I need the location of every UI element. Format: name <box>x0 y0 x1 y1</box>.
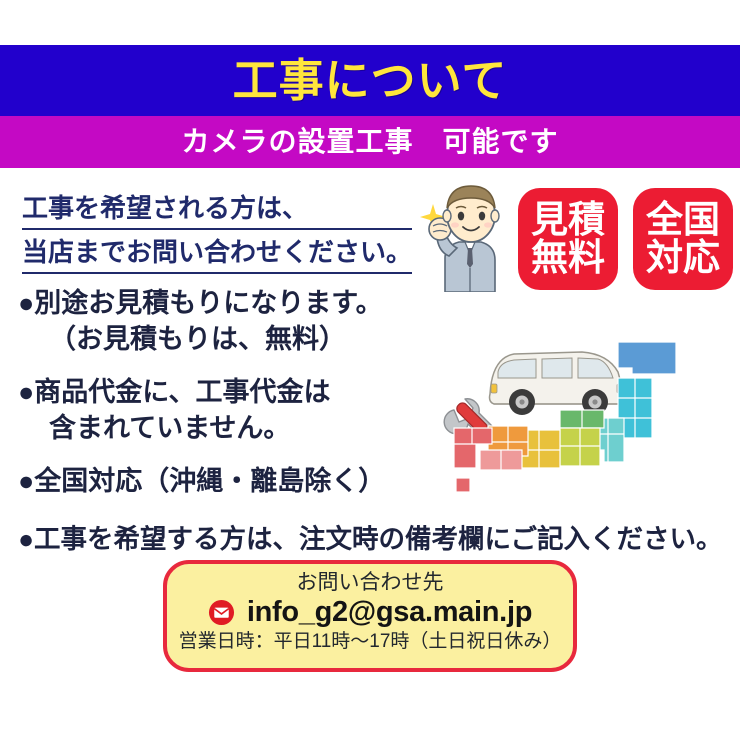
promo-banner: 工事について カメラの設置工事 可能です 工事を希望される方は、 当店までお問い… <box>0 0 740 740</box>
mail-envelope-icon <box>208 599 235 626</box>
bullet-3-line-1: ●全国対応（沖縄・離島除く） <box>18 466 385 496</box>
list-item: ●工事を希望する方は、注文時の備考欄にご記入ください。 <box>18 522 732 557</box>
badge-nation-line-1: 全国 <box>646 201 720 239</box>
lead-text: 工事を希望される方は、 当店までお問い合わせください。 <box>22 190 412 274</box>
badge-quote-line-2: 無料 <box>531 239 605 277</box>
lead-line-2: 当店までお問い合わせください。 <box>22 234 412 274</box>
contact-box: お問い合わせ先 info_g2@gsa.main.jp 営業日時：平日11時～1… <box>163 560 577 672</box>
page-title: 工事について <box>233 58 508 103</box>
badge-nation-line-2: 対応 <box>646 239 720 277</box>
header-title-band: 工事について <box>0 45 740 116</box>
white-van-icon <box>490 352 625 415</box>
badge-quote-free: 見積 無料 <box>518 188 618 290</box>
page-subtitle: カメラの設置工事 可能です <box>181 128 558 156</box>
contact-email-row: info_g2@gsa.main.jp <box>208 597 532 627</box>
header-subtitle-band: カメラの設置工事 可能です <box>0 116 740 168</box>
badge-quote-line-1: 見積 <box>531 201 605 239</box>
bullet-4-line-1: ●工事を希望する方は、注文時の備考欄にご記入ください。 <box>18 524 722 554</box>
contact-title: お問い合わせ先 <box>297 571 444 594</box>
bullet-1-line-1: ●別途お見積もりになります。 <box>18 288 383 318</box>
service-illustration <box>432 332 732 500</box>
lead-line-1: 工事を希望される方は、 <box>22 190 412 230</box>
contact-hours: 営業日時：平日11時～17時（土日祝日休み） <box>179 632 562 653</box>
badge-nationwide: 全国 対応 <box>633 188 733 290</box>
worker-thumbs-up-icon <box>415 182 520 292</box>
contact-email[interactable]: info_g2@gsa.main.jp <box>247 597 532 627</box>
bullet-2-line-1: ●商品代金に、工事代金は <box>18 377 331 407</box>
